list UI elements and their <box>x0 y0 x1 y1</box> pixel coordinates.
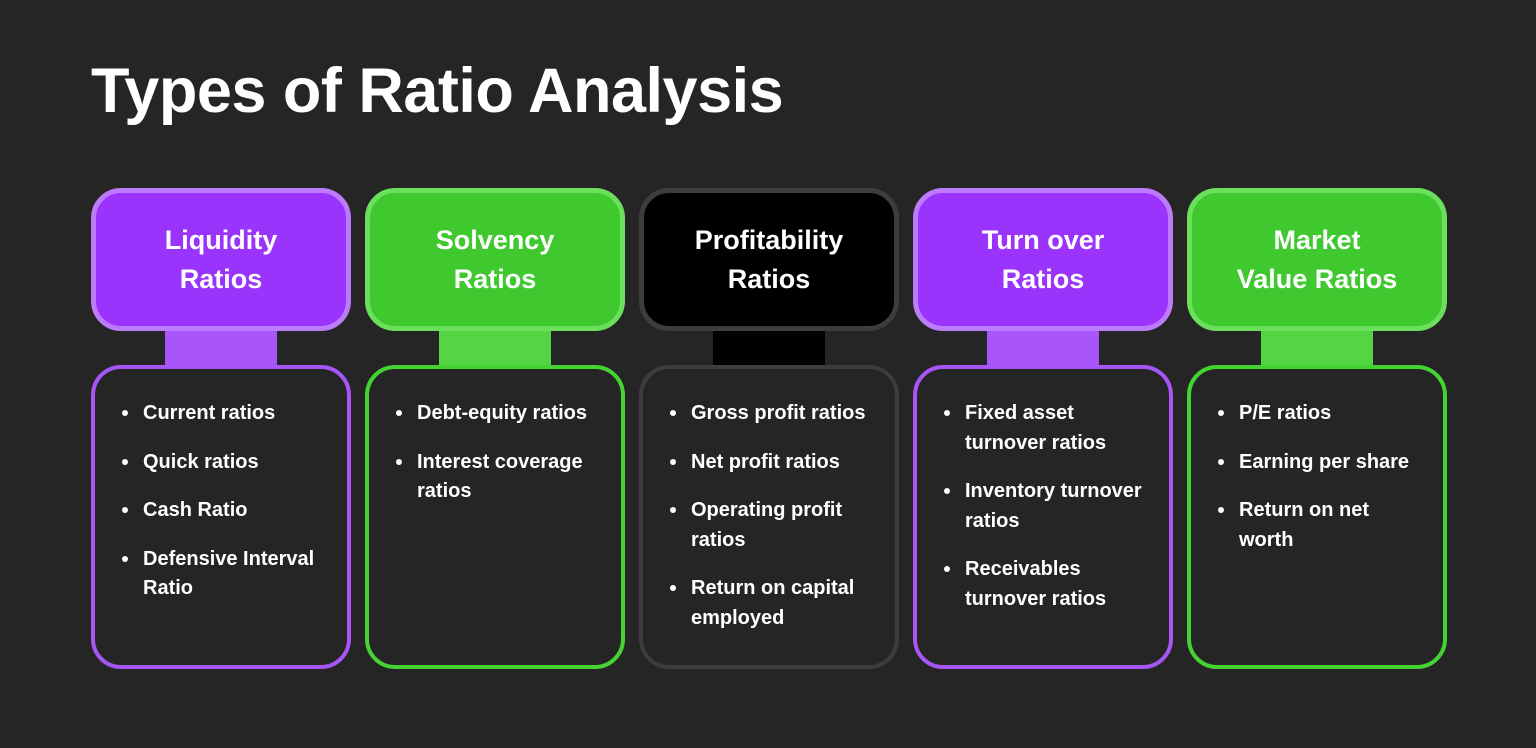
connector-fillet-left <box>139 329 165 367</box>
connector-bar <box>1261 329 1373 367</box>
list-card-solvency: Debt-equity ratiosInterest coverage rati… <box>365 365 625 669</box>
list-item[interactable]: Receivables turnover ratios <box>939 555 1149 614</box>
connector-profitability <box>639 329 899 367</box>
bullet-list: Current ratiosQuick ratiosCash RatioDefe… <box>117 399 327 604</box>
list-item[interactable]: Quick ratios <box>117 448 327 478</box>
list-card-profitability: Gross profit ratiosNet profit ratiosOper… <box>639 365 899 669</box>
ratio-columns: Liquidity RatiosCurrent ratiosQuick rati… <box>91 188 1445 669</box>
bullet-list: Gross profit ratiosNet profit ratiosOper… <box>665 399 875 634</box>
bullet-list: Fixed asset turnover ratiosInventory tur… <box>939 399 1149 615</box>
header-card-market-value[interactable]: Market Value Ratios <box>1187 188 1447 331</box>
list-item[interactable]: Operating profit ratios <box>665 496 875 555</box>
list-item[interactable]: Earning per share <box>1213 448 1423 478</box>
ratio-column-profitability: Profitability RatiosGross profit ratiosN… <box>639 188 899 669</box>
connector-fillet-right <box>825 329 851 367</box>
ratio-column-market-value: Market Value RatiosP/E ratiosEarning per… <box>1187 188 1447 669</box>
list-item[interactable]: Interest coverage ratios <box>391 448 601 507</box>
list-card-market-value: P/E ratiosEarning per shareReturn on net… <box>1187 365 1447 669</box>
list-card-liquidity: Current ratiosQuick ratiosCash RatioDefe… <box>91 365 351 669</box>
bullet-list: Debt-equity ratiosInterest coverage rati… <box>391 399 601 507</box>
header-card-label: Turn over Ratios <box>972 221 1115 298</box>
list-item[interactable]: Inventory turnover ratios <box>939 477 1149 536</box>
connector-fillet-right <box>1099 329 1125 367</box>
connector-turnover <box>913 329 1173 367</box>
connector-fillet-right <box>277 329 303 367</box>
list-item[interactable]: Return on capital employed <box>665 574 875 633</box>
header-card-label: Liquidity Ratios <box>155 221 287 298</box>
header-card-profitability[interactable]: Profitability Ratios <box>639 188 899 331</box>
list-item[interactable]: Defensive Interval Ratio <box>117 545 327 604</box>
list-item[interactable]: Fixed asset turnover ratios <box>939 399 1149 458</box>
connector-fillet-left <box>413 329 439 367</box>
page-title: Types of Ratio Analysis <box>91 58 783 124</box>
list-item[interactable]: Cash Ratio <box>117 496 327 526</box>
header-card-turnover[interactable]: Turn over Ratios <box>913 188 1173 331</box>
connector-bar <box>439 329 551 367</box>
header-card-solvency[interactable]: Solvency Ratios <box>365 188 625 331</box>
connector-fillet-left <box>961 329 987 367</box>
ratio-column-solvency: Solvency RatiosDebt-equity ratiosInteres… <box>365 188 625 669</box>
bullet-list: P/E ratiosEarning per shareReturn on net… <box>1213 399 1423 555</box>
list-item[interactable]: Return on net worth <box>1213 496 1423 555</box>
connector-solvency <box>365 329 625 367</box>
connector-fillet-left <box>1235 329 1261 367</box>
header-card-label: Market Value Ratios <box>1227 221 1408 298</box>
list-card-turnover: Fixed asset turnover ratiosInventory tur… <box>913 365 1173 669</box>
list-item[interactable]: Gross profit ratios <box>665 399 875 429</box>
connector-liquidity <box>91 329 351 367</box>
connector-fillet-right <box>551 329 577 367</box>
connector-market-value <box>1187 329 1447 367</box>
connector-bar <box>165 329 277 367</box>
header-card-liquidity[interactable]: Liquidity Ratios <box>91 188 351 331</box>
list-item[interactable]: Debt-equity ratios <box>391 399 601 429</box>
connector-bar <box>713 329 825 367</box>
ratio-column-liquidity: Liquidity RatiosCurrent ratiosQuick rati… <box>91 188 351 669</box>
connector-bar <box>987 329 1099 367</box>
header-card-label: Profitability Ratios <box>685 221 854 298</box>
header-card-label: Solvency Ratios <box>426 221 565 298</box>
ratio-column-turnover: Turn over RatiosFixed asset turnover rat… <box>913 188 1173 669</box>
list-item[interactable]: Current ratios <box>117 399 327 429</box>
infographic-canvas: Types of Ratio Analysis Liquidity Ratios… <box>0 0 1536 748</box>
connector-fillet-left <box>687 329 713 367</box>
list-item[interactable]: P/E ratios <box>1213 399 1423 429</box>
list-item[interactable]: Net profit ratios <box>665 448 875 478</box>
connector-fillet-right <box>1373 329 1399 367</box>
